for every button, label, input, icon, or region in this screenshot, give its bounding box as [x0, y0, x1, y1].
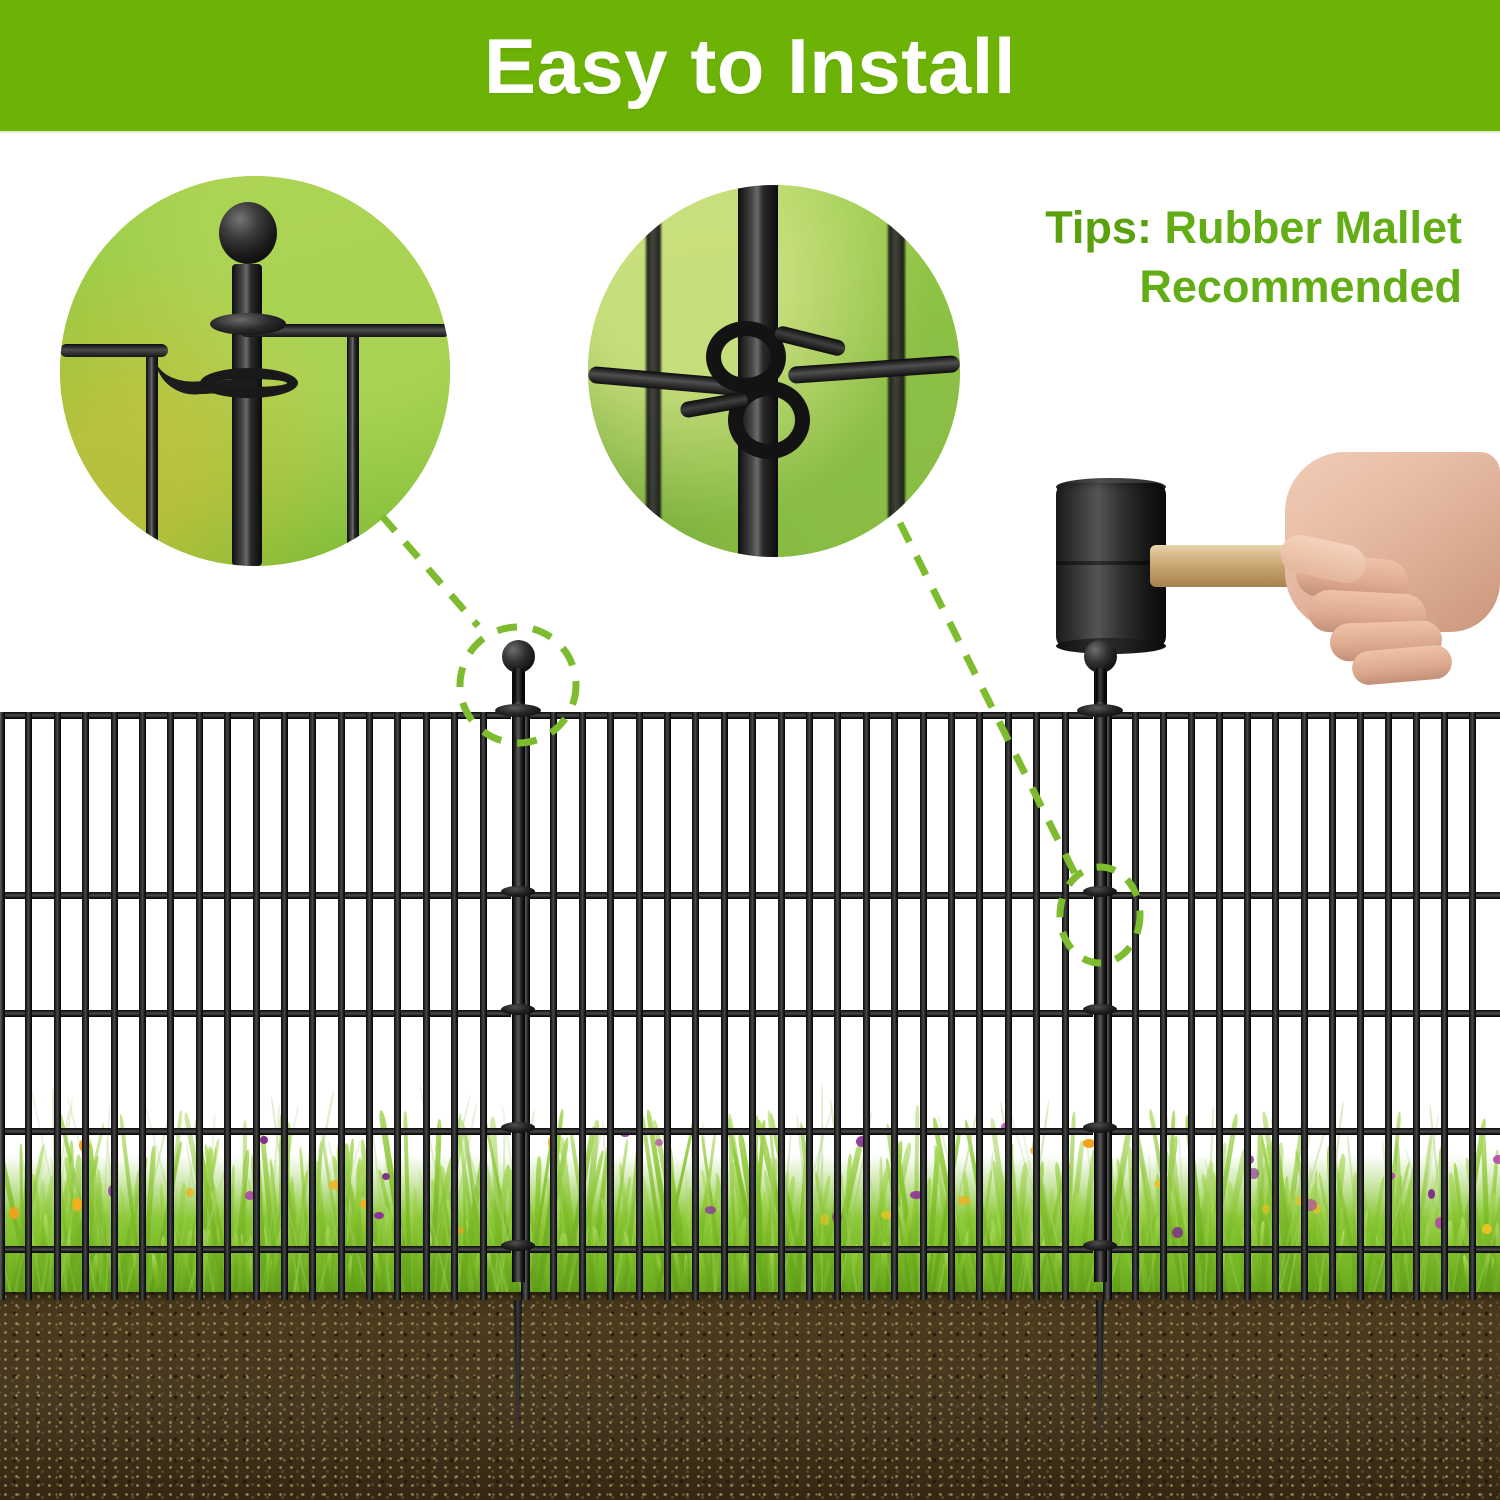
- fence-wire-0-16: [451, 712, 458, 1300]
- fence-wire-1-4: [636, 712, 643, 1300]
- post-hook-low-1: [1083, 1122, 1117, 1133]
- post-hook-low-0: [501, 1122, 535, 1133]
- post-hook-bottom-0: [501, 1240, 535, 1251]
- page-title: Easy to Install: [484, 27, 1016, 105]
- fence-wire-1-1: [550, 712, 557, 1300]
- fence-wire-1-16: [976, 712, 983, 1300]
- fence-wire-2-10: [1385, 712, 1392, 1300]
- fence-wire-1-19: [1062, 712, 1069, 1300]
- fence-wire-0-14: [394, 712, 401, 1300]
- post-hook-mid-1: [1083, 1004, 1117, 1015]
- fence-wire-1-18: [1033, 712, 1040, 1300]
- soil-texture: [0, 1292, 1500, 1500]
- finger-pinky: [1351, 644, 1454, 687]
- post-hook-0: [501, 886, 535, 897]
- fence-assembly: [0, 690, 1500, 1300]
- fence-wire-2-11: [1413, 712, 1420, 1300]
- fence-wire-2-7: [1301, 712, 1308, 1300]
- tips-label: Tips:: [1045, 202, 1152, 253]
- fence-wire-2-12: [1441, 712, 1448, 1300]
- fence-wire-2-5: [1244, 712, 1251, 1300]
- tips-line-1: Tips: Rubber Mallet: [902, 198, 1462, 257]
- callout-1-hook-ring: [200, 368, 298, 398]
- post-hook-mid-0: [501, 1004, 535, 1015]
- fence-wire-2-3: [1188, 712, 1195, 1300]
- fence-wire-1-8: [749, 712, 756, 1300]
- fence-wire-1-9: [778, 712, 785, 1300]
- fence-post-1: [1094, 662, 1107, 1282]
- tips-text: Tips: Rubber Mallet Recommended: [902, 198, 1462, 317]
- callout-1-post-shaft: [232, 264, 262, 566]
- post-neck-1: [1096, 668, 1105, 702]
- callout-1-top-rail-left: [60, 344, 168, 357]
- fence-wire-2-2: [1160, 712, 1167, 1300]
- fence-wire-2-13: [1469, 712, 1476, 1300]
- fence-wire-2-4: [1216, 712, 1223, 1300]
- fence-wire-0-10: [281, 712, 288, 1300]
- fence-wire-1-10: [806, 712, 813, 1300]
- tips-line-1-text: Rubber Mallet: [1164, 202, 1462, 253]
- post-hook-1: [1083, 886, 1117, 897]
- fence-wire-2-8: [1329, 712, 1336, 1300]
- callout-1-wire-right: [347, 326, 359, 566]
- fence-wire-0-9: [253, 712, 260, 1300]
- callout-s-hook: [588, 185, 960, 557]
- fence-wire-0-11: [309, 712, 316, 1300]
- fence-wire-0-1: [25, 712, 32, 1300]
- fence-wire-1-11: [834, 712, 841, 1300]
- fence-wire-1-12: [863, 712, 870, 1300]
- product-infographic: Easy to Install Tips: Rubber Mallet Reco…: [0, 0, 1500, 1500]
- fence-wire-0-13: [366, 712, 373, 1300]
- fence-wire-0-6: [167, 712, 174, 1300]
- fence-wire-2-6: [1272, 712, 1279, 1300]
- fence-wire-0-3: [82, 712, 89, 1300]
- fence-wire-1-2: [579, 712, 586, 1300]
- fence-wire-1-6: [692, 712, 699, 1300]
- post-collar-1: [1077, 704, 1123, 717]
- callout-1-ball-finial: [219, 202, 277, 264]
- fence-wire-2-1: [1132, 712, 1139, 1300]
- fence-wire-1-15: [948, 712, 955, 1300]
- fence-wire-0-15: [423, 712, 430, 1300]
- header-banner: Easy to Install: [0, 0, 1500, 131]
- fence-wire-0-2: [54, 712, 61, 1300]
- fence-wire-1-5: [664, 712, 671, 1300]
- panel-edge-bar-0-0: [0, 712, 5, 1300]
- post-neck-0: [514, 668, 523, 702]
- callout-ball-finial: [60, 176, 450, 566]
- fence-wire-0-12: [338, 712, 345, 1300]
- banner-edge-shadow: [0, 131, 1500, 134]
- fence-wire-0-5: [139, 712, 146, 1300]
- post-hook-bottom-1: [1083, 1240, 1117, 1251]
- fence-wire-0-8: [224, 712, 231, 1300]
- fence-wire-1-13: [891, 712, 898, 1300]
- callout-1-collar-top: [210, 313, 286, 335]
- soil-ground: [0, 1292, 1500, 1500]
- fence-wire-2-9: [1357, 712, 1364, 1300]
- fence-post-0: [512, 662, 525, 1282]
- fence-wire-1-3: [607, 712, 614, 1300]
- post-collar-0: [495, 704, 541, 717]
- fence-wire-1-17: [1005, 712, 1012, 1300]
- fence-wire-0-4: [111, 712, 118, 1300]
- callout-1-wire-left: [146, 352, 158, 566]
- fence-wire-0-17: [480, 712, 487, 1300]
- fence-wire-1-7: [721, 712, 728, 1300]
- fence-wire-0-7: [196, 712, 203, 1300]
- fence-wire-1-14: [920, 712, 927, 1300]
- tips-line-2: Recommended: [902, 257, 1462, 316]
